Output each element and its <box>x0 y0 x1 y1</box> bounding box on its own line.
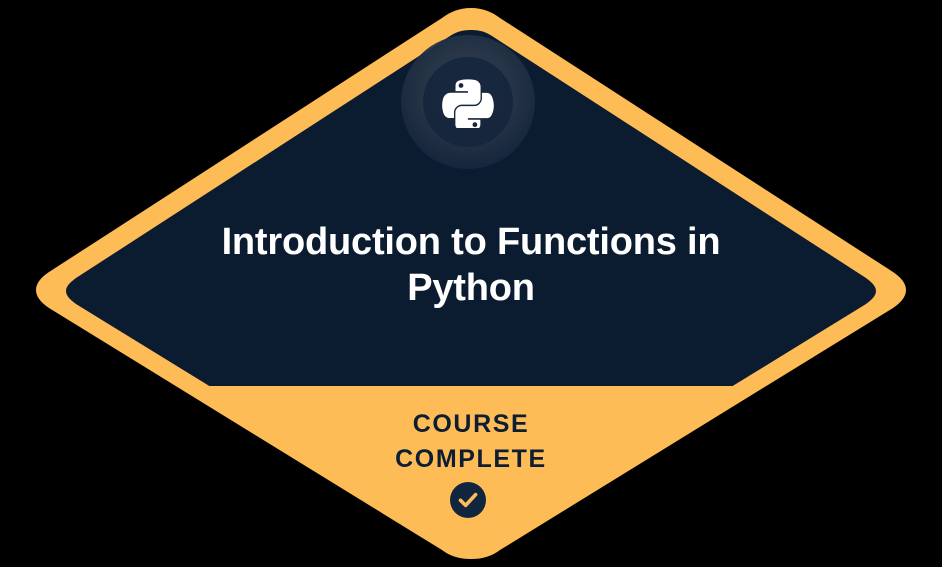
course-completion-badge: Introduction to Functions in Python COUR… <box>0 0 942 567</box>
status-line-course: COURSE <box>221 407 721 442</box>
completion-check-badge <box>450 482 486 518</box>
python-logo <box>401 35 535 169</box>
completion-status: COURSE COMPLETE <box>221 407 721 477</box>
course-title: Introduction to Functions in Python <box>171 219 771 311</box>
python-logo-icon <box>442 76 494 128</box>
check-circle-icon <box>450 482 486 518</box>
status-line-complete: COMPLETE <box>221 442 721 477</box>
